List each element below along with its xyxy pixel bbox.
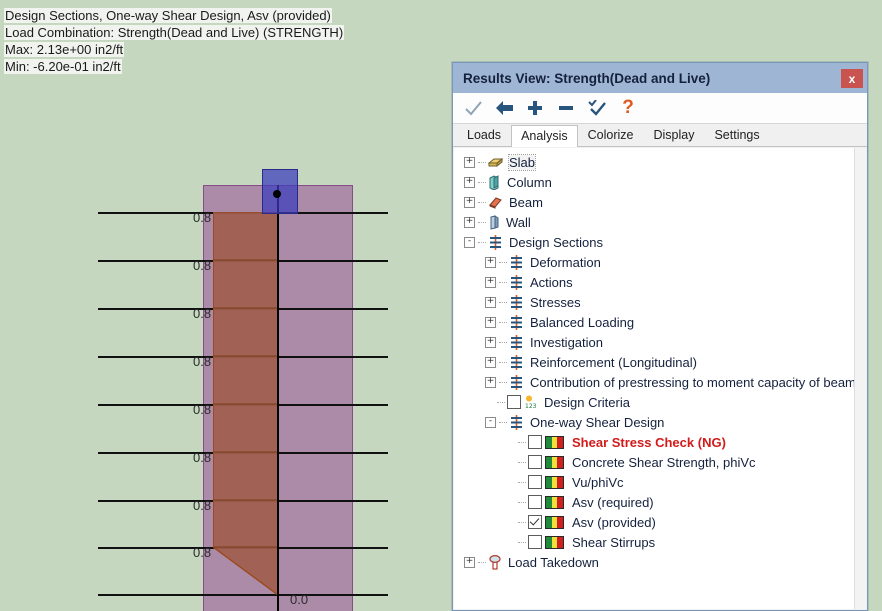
tree-item[interactable]: -Design Sections — [460, 232, 855, 252]
tree-item[interactable]: +Wall — [460, 212, 855, 232]
tree-connector — [499, 322, 507, 323]
expand-icon[interactable]: + — [464, 177, 475, 188]
tree-connector — [499, 302, 507, 303]
tree-item[interactable]: +Actions — [460, 272, 855, 292]
tree-connector — [497, 402, 505, 403]
tree-item[interactable]: Shear Stress Check (NG) — [460, 432, 855, 452]
takedown-icon — [488, 555, 502, 570]
tree-item-label[interactable]: Design Criteria — [544, 395, 630, 410]
tree-connector — [518, 542, 526, 543]
expand-icon[interactable]: + — [485, 337, 496, 348]
tree-item[interactable]: 123Design Criteria — [460, 392, 855, 412]
tree-item-label[interactable]: Asv (required) — [572, 495, 654, 510]
value-label: 0.8 — [193, 498, 211, 513]
tree-connector — [518, 482, 526, 483]
section-icon — [509, 315, 524, 330]
tree-item[interactable]: Concrete Shear Strength, phiVc — [460, 452, 855, 472]
tree-indent-spacer — [506, 498, 515, 507]
remove-minus-icon[interactable] — [556, 97, 576, 119]
tree-connector — [518, 502, 526, 503]
tree-item-label[interactable]: Design Sections — [509, 235, 603, 250]
results-tree-panel[interactable]: +Slab+Column+Beam+Wall-Design Sections+D… — [454, 148, 855, 609]
value-label: 0.8 — [193, 545, 211, 560]
dialog-title: Results View: Strength(Dead and Live) — [463, 71, 710, 86]
asv-provided-diagram — [213, 212, 278, 595]
tree-item-label[interactable]: Wall — [506, 215, 531, 230]
tree-item[interactable]: +Stresses — [460, 292, 855, 312]
column-axis-line — [277, 185, 279, 611]
colorbar-icon — [545, 536, 566, 549]
expand-icon[interactable]: + — [464, 197, 475, 208]
expand-icon[interactable]: + — [485, 357, 496, 368]
tree-item-label[interactable]: Shear Stirrups — [572, 535, 655, 550]
tree-item[interactable]: +Beam — [460, 192, 855, 212]
tree-item-label[interactable]: One-way Shear Design — [530, 415, 664, 430]
tree-connector — [478, 182, 486, 183]
tree-item[interactable]: +Slab — [460, 152, 855, 172]
tree-item[interactable]: +Column — [460, 172, 855, 192]
colorbar-icon — [545, 476, 566, 489]
tree-connector — [499, 342, 507, 343]
tree-item-label[interactable]: Balanced Loading — [530, 315, 634, 330]
tree-connector — [518, 522, 526, 523]
value-label: 0.8 — [193, 402, 211, 417]
tree-item-label[interactable]: Beam — [509, 195, 543, 210]
expand-icon[interactable]: + — [464, 217, 475, 228]
tree-indent-spacer — [506, 538, 515, 547]
tab-analysis[interactable]: Analysis — [511, 125, 578, 147]
tree-item-label[interactable]: Stresses — [530, 295, 581, 310]
expand-icon[interactable]: + — [485, 277, 496, 288]
colorbar-icon — [545, 516, 566, 529]
tree-item-checkbox[interactable] — [528, 475, 542, 489]
tree-item-label[interactable]: Load Takedown — [508, 555, 599, 570]
tree-item-label[interactable]: Asv (provided) — [572, 515, 656, 530]
tree-indent-spacer — [506, 478, 515, 487]
expand-icon[interactable]: + — [485, 317, 496, 328]
expand-icon[interactable]: + — [485, 257, 496, 268]
value-label: 0.8 — [193, 354, 211, 369]
tree-connector — [478, 562, 486, 563]
svg-text:123: 123 — [525, 403, 537, 409]
tree-item-checkbox[interactable] — [507, 395, 521, 409]
section-icon — [509, 415, 524, 430]
tree-item[interactable]: +Balanced Loading — [460, 312, 855, 332]
dialog-tab-bar[interactable]: Loads Analysis Colorize Display Settings — [453, 124, 867, 147]
tree-item-label[interactable]: Investigation — [530, 335, 603, 350]
tree-connector — [478, 202, 486, 203]
tree-item[interactable]: Shear Stirrups — [460, 532, 855, 552]
tree-item-label[interactable]: Actions — [530, 275, 573, 290]
column-icon — [488, 175, 501, 190]
section-icon — [509, 375, 524, 390]
tree-item-label[interactable]: Vu/phiVc — [572, 475, 624, 490]
tree-indent-spacer — [506, 438, 515, 447]
tree-item-label[interactable]: Deformation — [530, 255, 601, 270]
section-icon — [509, 335, 524, 350]
value-label: 0.8 — [193, 258, 211, 273]
expand-icon[interactable]: + — [485, 377, 496, 388]
tree-connector — [518, 462, 526, 463]
tree-connector — [478, 242, 486, 243]
tree-item-label[interactable]: Shear Stress Check (NG) — [572, 435, 726, 450]
colorbar-icon — [545, 496, 566, 509]
legend-max-value: Max: 2.13e+00 in2/ft — [4, 42, 124, 57]
value-label: 0.8 — [193, 210, 211, 225]
section-icon — [488, 235, 503, 250]
tree-item-checkbox[interactable] — [528, 535, 542, 549]
tree-item[interactable]: -One-way Shear Design — [460, 412, 855, 432]
tree-indent-spacer — [506, 458, 515, 467]
tree-item-checkbox[interactable] — [528, 455, 542, 469]
tree-item-checkbox[interactable] — [528, 435, 542, 449]
dialog-toolbar[interactable]: ? — [453, 93, 867, 124]
value-label: 0.8 — [193, 450, 211, 465]
tab-loads[interactable]: Loads — [457, 124, 511, 146]
tree-scroll-region[interactable]: +Slab+Column+Beam+Wall-Design Sections+D… — [454, 148, 855, 609]
tree-connector — [478, 162, 486, 163]
section-icon — [509, 355, 524, 370]
tree-item-checkbox[interactable] — [528, 515, 542, 529]
tree-item[interactable]: Vu/phiVc — [460, 472, 855, 492]
tree-item-label[interactable]: Column — [507, 175, 552, 190]
tree-item-label[interactable]: Slab — [509, 155, 535, 170]
tree-item[interactable]: +Contribution of prestressing to moment … — [460, 372, 855, 392]
tab-colorize[interactable]: Colorize — [578, 124, 644, 146]
tree-connector — [478, 222, 486, 223]
results-view-dialog[interactable]: Results View: Strength(Dead and Live) x … — [452, 62, 868, 611]
legend-title: Design Sections, One-way Shear Design, A… — [4, 8, 332, 23]
tree-indent-spacer — [506, 518, 515, 527]
slab-icon — [488, 156, 503, 169]
criteria-icon: 123 — [524, 395, 538, 409]
tree-item-label[interactable]: Reinforcement (Longitudinal) — [530, 355, 697, 370]
tree-item[interactable]: +Reinforcement (Longitudinal) — [460, 352, 855, 372]
legend-load-combination: Load Combination: Strength(Dead and Live… — [4, 25, 344, 40]
vertical-scrollbar[interactable] — [854, 148, 866, 609]
colorbar-icon — [545, 436, 566, 449]
tree-connector — [499, 282, 507, 283]
section-icon — [509, 255, 524, 270]
check-all-icon[interactable] — [587, 97, 607, 119]
apply-check-icon[interactable] — [463, 97, 483, 119]
tab-settings[interactable]: Settings — [704, 124, 769, 146]
tree-connector — [499, 262, 507, 263]
tree-item[interactable]: Asv (required) — [460, 492, 855, 512]
value-label: 0.8 — [193, 306, 211, 321]
tree-item-checkbox[interactable] — [528, 495, 542, 509]
expand-icon[interactable]: + — [464, 157, 475, 168]
results-tree[interactable]: +Slab+Column+Beam+Wall-Design Sections+D… — [454, 148, 855, 572]
section-icon — [509, 295, 524, 310]
tree-connector — [499, 422, 507, 423]
collapse-icon[interactable]: - — [485, 417, 496, 428]
tree-connector — [499, 362, 507, 363]
tree-item[interactable]: +Load Takedown — [460, 552, 855, 572]
expand-icon[interactable]: + — [485, 297, 496, 308]
collapse-icon[interactable]: - — [464, 237, 475, 248]
legend-min-value: Min: -6.20e-01 in2/ft — [4, 59, 122, 74]
close-icon[interactable]: x — [841, 69, 863, 88]
wall-icon — [488, 215, 500, 230]
tree-indent-spacer — [485, 398, 494, 407]
tree-item[interactable]: Asv (provided) — [460, 512, 855, 532]
tree-item-label[interactable]: Concrete Shear Strength, phiVc — [572, 455, 756, 470]
value-label: 0.0 — [290, 592, 308, 607]
add-plus-icon[interactable] — [525, 97, 545, 119]
expand-icon[interactable]: + — [464, 557, 475, 568]
back-arrow-icon[interactable] — [494, 97, 514, 119]
tree-connector — [518, 442, 526, 443]
tree-item-label[interactable]: Contribution of prestressing to moment c… — [530, 375, 855, 390]
section-icon — [509, 275, 524, 290]
tab-display[interactable]: Display — [643, 124, 704, 146]
tree-connector — [499, 382, 507, 383]
tree-item[interactable]: +Deformation — [460, 252, 855, 272]
column-node-point — [273, 190, 281, 198]
colorbar-icon — [545, 456, 566, 469]
help-question-icon[interactable]: ? — [618, 97, 638, 119]
tree-item[interactable]: +Investigation — [460, 332, 855, 352]
beam-icon — [488, 196, 503, 209]
dialog-titlebar[interactable]: Results View: Strength(Dead and Live) x — [453, 63, 867, 93]
